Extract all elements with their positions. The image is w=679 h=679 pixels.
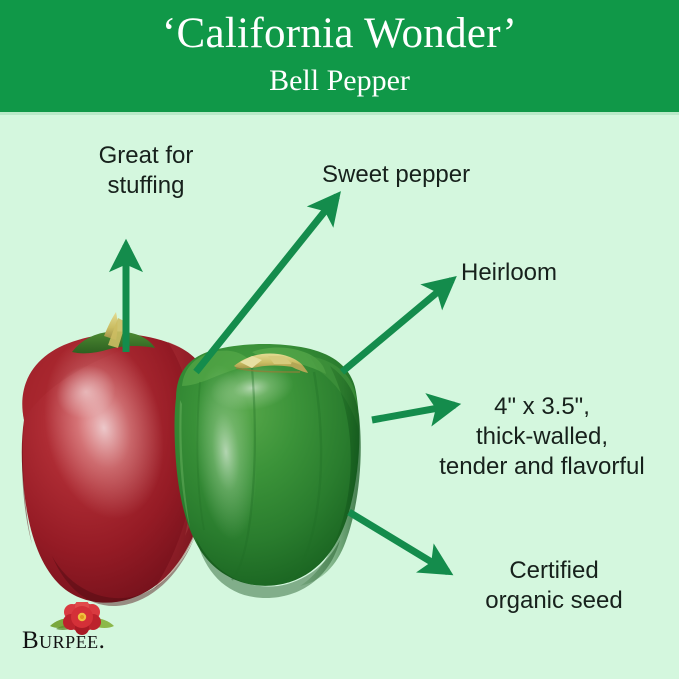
burpee-logo: Burpee.	[22, 602, 162, 654]
arrow-right	[372, 405, 455, 420]
arrow-down-right	[349, 512, 448, 572]
infographic-canvas: ‘California Wonder’ Bell Pepper	[0, 0, 679, 679]
arrow-up-right	[342, 280, 452, 372]
arrow-up-right-steep	[196, 196, 337, 372]
burpee-wordmark: Burpee.	[22, 628, 162, 654]
callout-arrows	[0, 0, 679, 679]
